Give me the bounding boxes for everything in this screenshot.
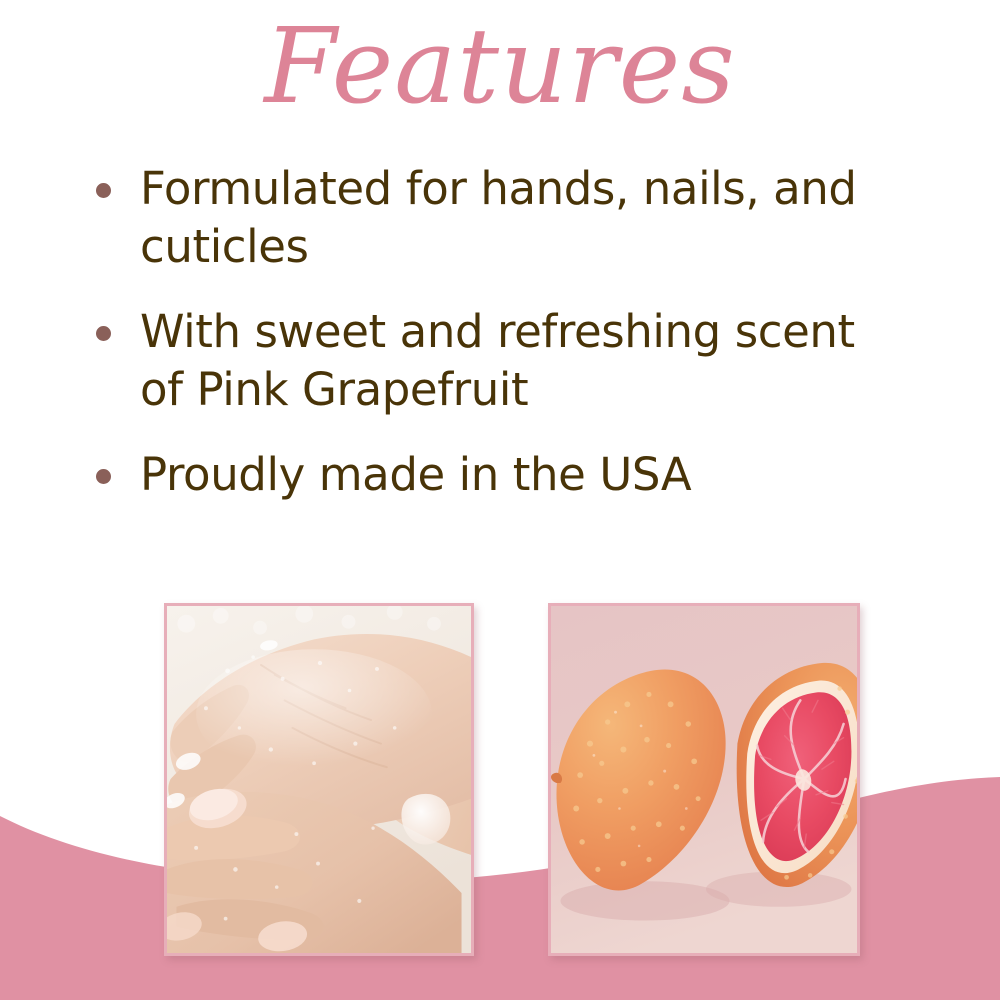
photo-hands-image	[167, 606, 471, 953]
feature-text: Proudly made in the USA	[140, 446, 882, 504]
list-item: With sweet and refreshing scent of Pink …	[92, 303, 882, 418]
bullet-dot-icon	[96, 183, 111, 198]
photo-grapefruit-image	[551, 606, 857, 953]
feature-text: Formulated for hands, nails, and cuticle…	[140, 160, 882, 275]
list-item: Formulated for hands, nails, and cuticle…	[92, 160, 882, 275]
features-list: Formulated for hands, nails, and cuticle…	[92, 160, 882, 504]
page-title: Features	[0, 8, 1000, 124]
bullet-dot-icon	[96, 469, 111, 484]
photo-hands-applying-lotion	[164, 603, 474, 956]
bullet-dot-icon	[96, 326, 111, 341]
photo-pink-grapefruit-halves	[548, 603, 860, 956]
list-item: Proudly made in the USA	[92, 446, 882, 504]
feature-slide: Features Formulated for hands, nails, an…	[0, 0, 1000, 1000]
feature-text: With sweet and refreshing scent of Pink …	[140, 303, 882, 418]
